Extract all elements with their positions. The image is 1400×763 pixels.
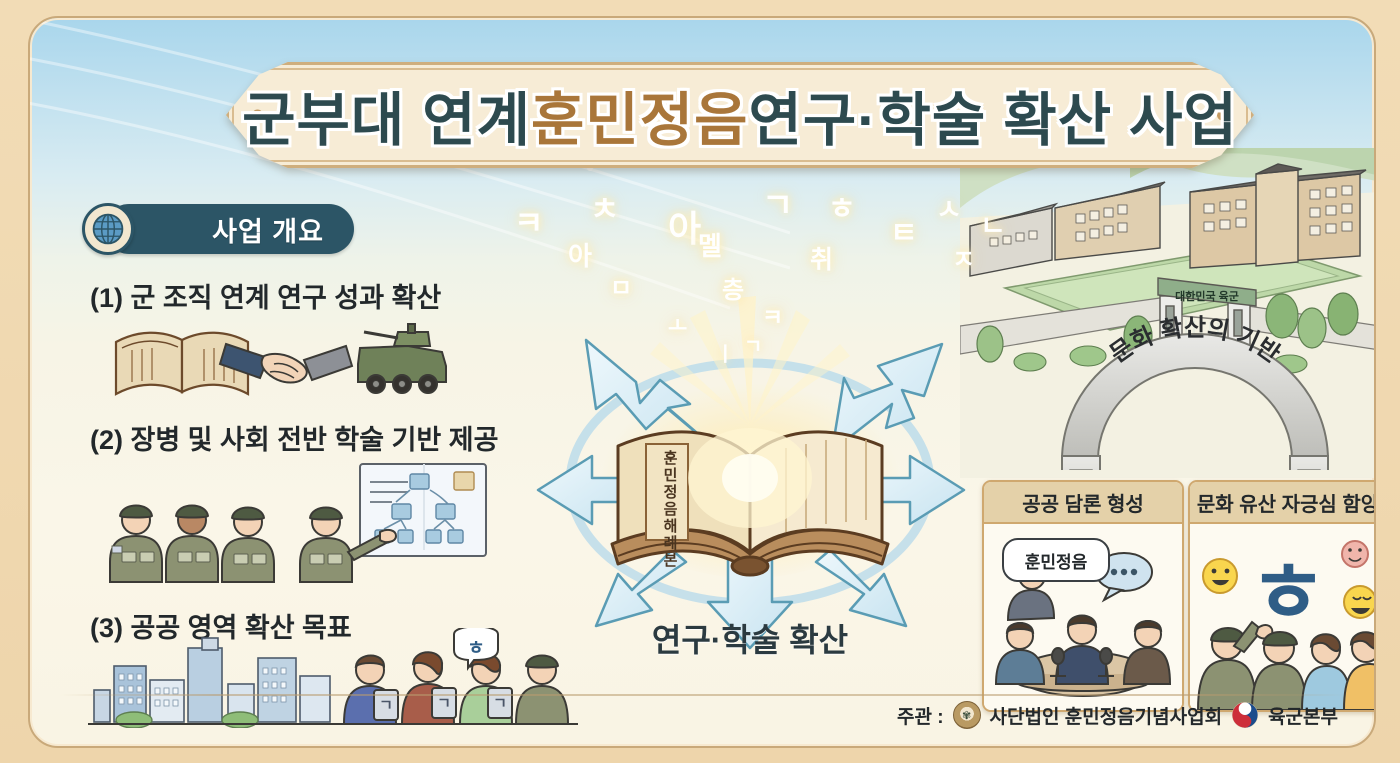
outcome-card-2-title: 문화 유산 자긍심 함양	[1190, 482, 1376, 524]
letter-9: 멜	[698, 226, 722, 263]
badge-label: 사업 개요	[212, 210, 324, 249]
letter-1: ㅊ	[590, 184, 619, 230]
gate-sign-text: 대한민국 육군	[1175, 289, 1239, 303]
letter-11: ㅈ	[952, 240, 975, 276]
letter-14: ㅋ	[762, 298, 783, 332]
speech-bubble-text: 훈민정음	[1025, 548, 1088, 573]
outcome-card-cultural-pride: 문화 유산 자긍심 함양	[1188, 480, 1376, 712]
outcome-card-2-body: ㅎ	[1190, 524, 1376, 710]
letter-7: ㄴ	[980, 204, 1006, 244]
letter-5: ㅌ	[890, 208, 918, 252]
art-book-handshake-vehicle	[108, 308, 448, 408]
book-spine-text: 훈민정음해례본	[656, 450, 680, 569]
title-suffix: 연구·학술 확산 사업	[748, 73, 1237, 157]
letter-6: ㅅ	[936, 188, 962, 228]
letter-4: ㅎ	[828, 184, 856, 228]
svg-text:ㄱ: ㄱ	[379, 697, 393, 714]
letter-15: ㅗ	[668, 310, 687, 340]
svg-text:ㄱ: ㄱ	[493, 695, 507, 712]
poster-title: 군부대 연계 훈민정음 연구·학술 확산 사업	[226, 62, 1254, 168]
badge-pill: 사업 개요	[104, 204, 354, 254]
society-emblem-icon: ✾	[953, 701, 981, 729]
letter-2: 아	[668, 200, 701, 252]
centre-diagram: 훈민정음해례본 ㅋ ㅊ 아 ㄱ ㅎ ㅌ ㅅ ㄴ 아 멜 취 ㅈ ㅁ 층 ㅋ ㅗ …	[500, 178, 1000, 678]
speech-bubble-hunminjeongeum: 훈민정음	[1002, 538, 1110, 582]
footer-org-2: 육군본부	[1268, 702, 1338, 729]
culture-base-arch: 문화 확산의 기반	[1040, 310, 1360, 470]
outcome-card-1-title: 공공 담론 형성	[984, 482, 1182, 524]
letter-12: ㅁ	[610, 268, 632, 303]
poster-root: 대한민국 육군	[0, 0, 1400, 763]
globe-icon	[82, 203, 134, 255]
section-badge-overview: 사업 개요	[82, 204, 134, 254]
poster-panel: 대한민국 육군	[28, 16, 1376, 748]
letter-16: ㅣ	[716, 338, 734, 367]
letter-10: 취	[810, 240, 833, 276]
title-text: 군부대 연계 훈민정음 연구·학술 확산 사업	[226, 62, 1254, 168]
art-soldiers-whiteboard	[92, 458, 492, 598]
taegeuk-icon	[1231, 701, 1259, 729]
letter-17: ㄱ	[744, 330, 762, 359]
letter-0: ㅋ	[514, 198, 543, 244]
outcome-card-public-discourse: 공공 담론 형성	[982, 480, 1184, 712]
footer-prefix: 주관 :	[897, 702, 944, 729]
footer-credits: 주관 : ✾ 사단법인 훈민정음기념사업회 육군본부	[897, 698, 1338, 732]
letter-8: 아	[568, 236, 592, 273]
title-prefix: 군부대 연계	[242, 73, 531, 157]
svg-text:ㄱ: ㄱ	[437, 695, 451, 712]
title-highlight: 훈민정음	[531, 73, 748, 157]
centre-caption: 연구·학술 확산	[500, 615, 1000, 661]
svg-text:ㅎ: ㅎ	[467, 638, 484, 659]
letter-3: ㄱ	[762, 178, 793, 227]
hangul-glyph-hieut: ㅎ	[1249, 546, 1326, 640]
footer-divider	[60, 694, 1344, 696]
outcome-card-1-body: 훈민정음	[984, 524, 1182, 710]
overview-item-2-label: (2) 장병 및 사회 전반 학술 기반 제공	[90, 418, 498, 457]
footer-org-1: 사단법인 훈민정음기념사업회	[990, 702, 1223, 729]
letter-13: 층	[722, 270, 744, 305]
